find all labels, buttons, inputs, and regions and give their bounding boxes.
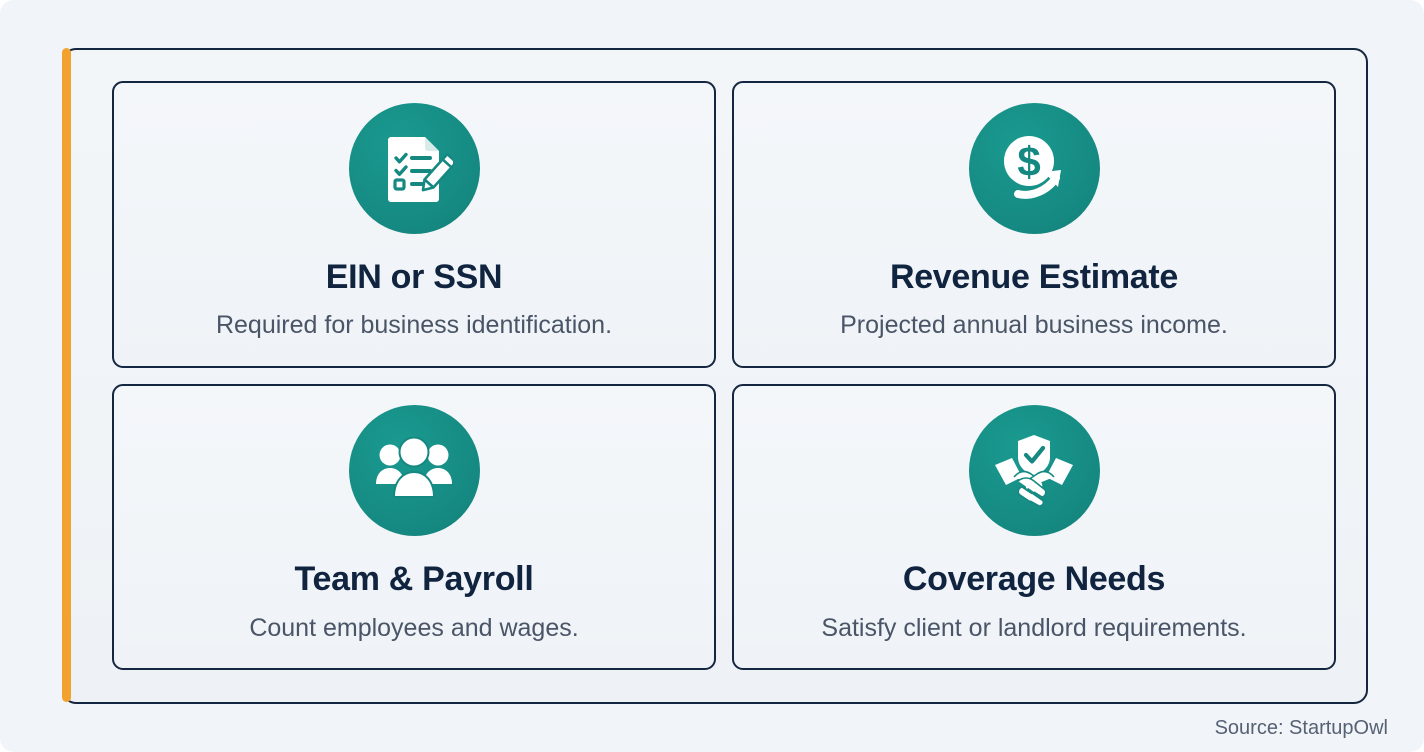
card-revenue-estimate[interactable]: $ Revenue Estimate Projected annual busi… [732, 81, 1336, 368]
card-description: Satisfy client or landlord requirements. [821, 615, 1246, 643]
document-checklist-pencil-icon [349, 103, 480, 234]
source-attribution: Source: StartupOwl [1215, 717, 1388, 740]
infographic-page: EIN or SSN Required for business identif… [0, 0, 1424, 752]
card-title: Revenue Estimate [890, 260, 1178, 296]
card-ein-or-ssn[interactable]: EIN or SSN Required for business identif… [112, 81, 716, 368]
group-people-icon [349, 405, 480, 536]
card-title: Coverage Needs [903, 562, 1165, 598]
card-description: Required for business identification. [216, 312, 612, 340]
handshake-shield-check-icon [969, 405, 1100, 536]
card-description: Projected annual business income. [840, 312, 1228, 340]
card-coverage-needs[interactable]: Coverage Needs Satisfy client or landlor… [732, 384, 1336, 671]
orange-accent-bar [62, 48, 71, 702]
card-title: EIN or SSN [326, 260, 502, 296]
dollar-growth-arrow-icon: $ [969, 103, 1100, 234]
svg-text:$: $ [1017, 138, 1040, 185]
card-team-and-payroll[interactable]: Team & Payroll Count employees and wages… [112, 384, 716, 671]
card-grid: EIN or SSN Required for business identif… [112, 81, 1336, 670]
outer-frame: EIN or SSN Required for business identif… [62, 48, 1368, 704]
card-title: Team & Payroll [295, 562, 534, 598]
card-description: Count employees and wages. [249, 615, 578, 643]
